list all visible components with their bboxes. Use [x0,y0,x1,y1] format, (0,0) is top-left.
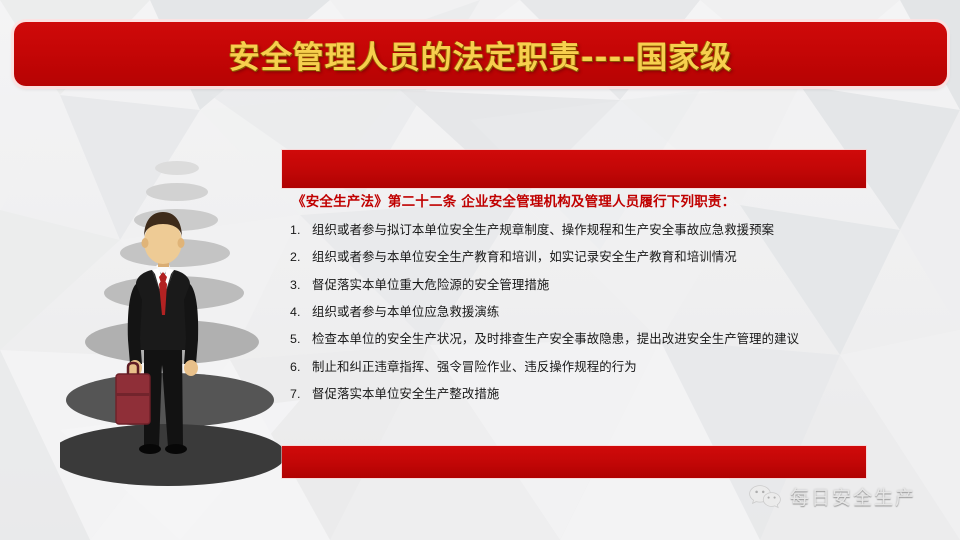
list-item: 督促落实本单位安全生产整改措施 [282,385,872,403]
slide: 安全管理人员的法定职责----国家级 《安全生产法》第二十二条 企业安全管理机构… [0,0,960,540]
page-title: 安全管理人员的法定职责----国家级 [229,32,732,77]
wechat-icon [748,484,782,510]
decorative-bar-top [282,150,866,188]
watermark-text: 每日安全生产 [790,483,916,510]
illustration-businessman [60,150,290,490]
watermark: 每日安全生产 [748,483,916,510]
list-item: 制止和纠正违章指挥、强令冒险作业、违反操作规程的行为 [282,358,872,376]
list-item: 组织或者参与本单位安全生产教育和培训，如实记录安全生产教育和培训情况 [282,248,872,266]
content-block: 《安全生产法》第二十二条 企业安全管理机构及管理人员履行下列职责： 组织或者参与… [282,190,872,442]
list-item: 组织或者参与拟订本单位安全生产规章制度、操作规程和生产安全事故应急救援预案 [282,221,872,239]
list-item: 组织或者参与本单位应急救援演练 [282,303,872,321]
list-item: 督促落实本单位重大危险源的安全管理措施 [282,276,872,294]
list-item: 检查本单位的安全生产状况，及时排查生产安全事故隐患，提出改进安全生产管理的建议 [282,330,872,348]
content-subtitle: 《安全生产法》第二十二条 企业安全管理机构及管理人员履行下列职责： [292,190,872,210]
decorative-bar-bottom [282,446,866,478]
title-banner: 安全管理人员的法定职责----国家级 [14,22,947,86]
duty-list: 组织或者参与拟订本单位安全生产规章制度、操作规程和生产安全事故应急救援预案 组织… [282,221,872,404]
